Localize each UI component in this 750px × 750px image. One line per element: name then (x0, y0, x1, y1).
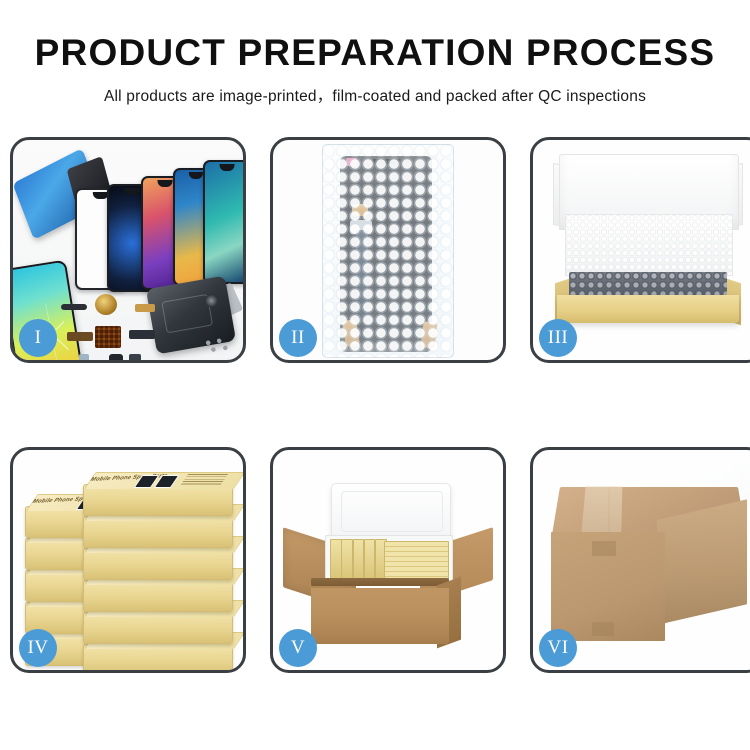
sealed-carton (547, 476, 750, 646)
open-tray-box (547, 154, 749, 330)
step-panel-2: II (270, 137, 506, 363)
open-carton (287, 472, 489, 648)
step-panel-3: III (530, 137, 750, 363)
header: PRODUCT PREPARATION PROCESS All products… (0, 0, 750, 106)
page-subtitle: All products are image-printed，film-coat… (0, 84, 750, 106)
carton-front-panel (311, 588, 448, 644)
bubble-texture (322, 144, 454, 358)
notch-icon (189, 172, 203, 179)
inner-box (353, 539, 364, 581)
step-badge-2: II (279, 319, 317, 357)
inner-box (330, 539, 341, 581)
bubble-wrap-bag (322, 144, 454, 358)
notch-icon (124, 188, 140, 195)
flex-cable-part-icon (67, 332, 93, 341)
spare-parts-box (83, 644, 233, 670)
product-preparation-infographic: PRODUCT PREPARATION PROCESS All products… (0, 0, 750, 750)
step-panel-6: VI (530, 447, 750, 673)
spare-parts-box: Mobile Phone Spare Parts (83, 484, 233, 516)
inner-boxes-row (325, 535, 452, 583)
tray-front-panel (557, 295, 739, 323)
step-panel-4: Mobile Phone Spare Parts Mobile Phone Sp… (10, 447, 246, 673)
notch-icon (158, 180, 173, 187)
camera-part-icon (109, 354, 123, 360)
spare-parts-box (83, 612, 233, 644)
inner-box (341, 539, 352, 581)
carton-side-face (657, 499, 747, 625)
page-title: PRODUCT PREPARATION PROCESS (0, 34, 750, 71)
spare-parts-box (83, 516, 233, 548)
chip-part-icon (95, 326, 121, 348)
inner-box (364, 539, 375, 581)
spare-parts-box (83, 580, 233, 612)
step-badge-3: III (539, 319, 577, 357)
antenna-part-icon (61, 304, 87, 310)
step-badge-1: I (19, 319, 57, 357)
step-badge-4: IV (19, 629, 57, 667)
step-panel-5: V (270, 447, 506, 673)
foam-sheet-icon (565, 214, 733, 276)
phone-screen-teal (203, 160, 243, 284)
inner-box-group (384, 541, 449, 581)
screws-icon (203, 338, 229, 354)
flex-cable-part-icon (129, 330, 155, 339)
spare-parts-box (83, 548, 233, 580)
carton-handle-notch (592, 541, 616, 556)
notch-icon (220, 164, 235, 171)
step-panel-1: I (10, 137, 246, 363)
step-badge-6: VI (539, 629, 577, 667)
flex-cable-part-icon (135, 304, 155, 312)
steps-grid: I II (10, 137, 740, 673)
step-badge-5: V (279, 629, 317, 667)
carton-handle-notch (592, 622, 614, 636)
foam-lid-icon (331, 483, 450, 541)
speaker-part-icon (95, 294, 117, 315)
carton-rim (311, 578, 448, 587)
box-spec-list (180, 474, 228, 486)
sim-tray-part-icon (79, 354, 89, 360)
button-part-icon (129, 354, 141, 360)
